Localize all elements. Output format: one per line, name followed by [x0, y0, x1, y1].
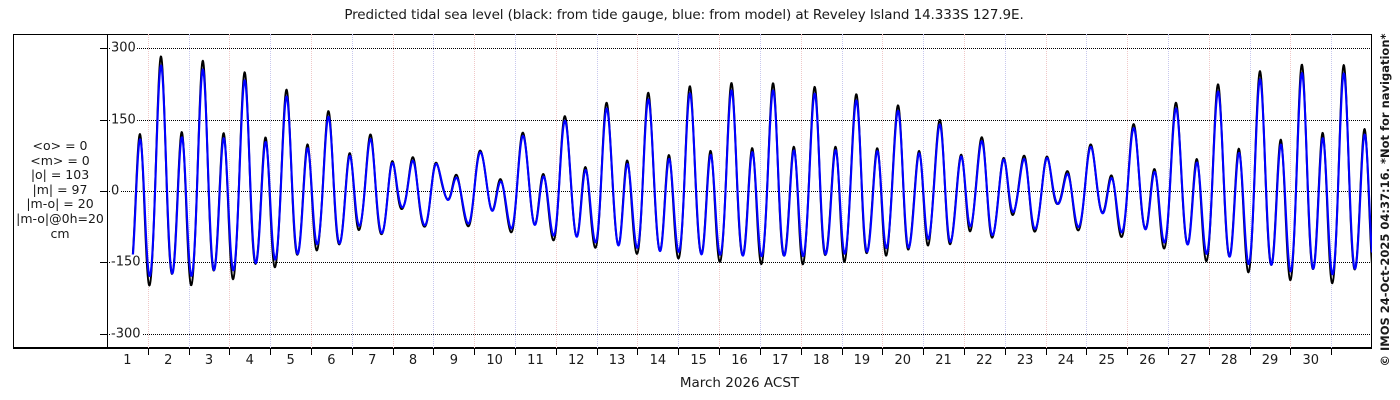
x-tick-label: 22	[976, 353, 993, 368]
x-tick-mark	[882, 348, 883, 355]
x-tick-label: 3	[205, 353, 213, 368]
x-tick-label: 9	[450, 353, 458, 368]
y-axis-line	[107, 34, 108, 348]
x-tick-label: 12	[568, 353, 585, 368]
x-tick-mark	[270, 348, 271, 355]
x-tick-label: 10	[486, 353, 503, 368]
x-tick-label: 2	[164, 353, 172, 368]
x-tick-mark	[148, 348, 149, 355]
x-tick-mark	[474, 348, 475, 355]
x-tick-mark	[1290, 348, 1291, 355]
x-tick-label: 28	[1221, 353, 1238, 368]
x-tick-mark	[678, 348, 679, 355]
y-tick-mark	[100, 48, 107, 49]
x-tick-mark	[801, 348, 802, 355]
x-tick-label: 29	[1262, 353, 1279, 368]
x-tick-mark	[1086, 348, 1087, 355]
x-tick-label: 17	[772, 353, 789, 368]
x-tick-label: 14	[650, 353, 667, 368]
tidal-chart-page: Predicted tidal sea level (black: from t…	[0, 0, 1400, 400]
x-tick-label: 13	[609, 353, 626, 368]
statistic-line: cm	[13, 227, 107, 242]
x-tick-mark	[1005, 348, 1006, 355]
series-line-model	[132, 66, 1372, 276]
copyright-notice: © IMOS 24-Oct-2025 04:37:16. *Not for na…	[1374, 0, 1396, 400]
y-tick-label: 0	[110, 184, 120, 199]
x-tick-mark	[556, 348, 557, 355]
x-tick-mark	[760, 348, 761, 355]
x-tick-label: 26	[1139, 353, 1156, 368]
x-tick-label: 4	[246, 353, 254, 368]
x-tick-mark	[189, 348, 190, 355]
x-tick-label: 24	[1058, 353, 1075, 368]
x-tick-mark	[433, 348, 434, 355]
page-title: Predicted tidal sea level (black: from t…	[0, 7, 1368, 23]
x-tick-label: 19	[854, 353, 871, 368]
statistic-line: <m> = 0	[13, 154, 107, 169]
x-tick-mark	[352, 348, 353, 355]
tide-series-plot	[107, 34, 1372, 348]
x-tick-mark	[515, 348, 516, 355]
y-tick-label: 300	[110, 41, 137, 56]
statistics-block: <o> = 0<m> = 0|o| = 103|m| = 97|m-o| = 2…	[13, 139, 107, 241]
x-tick-mark	[229, 348, 230, 355]
statistic-line: |m-o|@0h=20	[13, 212, 107, 227]
x-tick-mark	[1209, 348, 1210, 355]
x-tick-mark	[1250, 348, 1251, 355]
x-tick-mark	[719, 348, 720, 355]
x-tick-label: 8	[409, 353, 417, 368]
statistic-line: |m| = 97	[13, 183, 107, 198]
x-tick-label: 6	[327, 353, 335, 368]
x-axis-title: March 2026 ACST	[107, 375, 1372, 391]
series-line-observed	[132, 56, 1372, 285]
y-tick-mark	[100, 262, 107, 263]
x-tick-mark	[637, 348, 638, 355]
x-tick-label: 21	[935, 353, 952, 368]
x-tick-mark	[923, 348, 924, 355]
x-tick-label: 30	[1303, 353, 1320, 368]
x-tick-mark	[1331, 348, 1332, 355]
x-tick-label: 7	[368, 353, 376, 368]
y-tick-label: -300	[110, 326, 142, 341]
y-tick-label: -150	[110, 255, 142, 270]
x-tick-mark	[1046, 348, 1047, 355]
copyright-text: © IMOS 24-Oct-2025 04:37:16. *Not for na…	[1378, 33, 1392, 366]
x-tick-label: 25	[1098, 353, 1115, 368]
x-tick-mark	[964, 348, 965, 355]
x-tick-label: 1	[123, 353, 131, 368]
statistic-line: |o| = 103	[13, 168, 107, 183]
x-tick-label: 11	[527, 353, 544, 368]
y-tick-mark	[100, 120, 107, 121]
y-tick-label: 150	[110, 112, 137, 127]
plot-area	[107, 34, 1372, 348]
x-tick-label: 5	[286, 353, 294, 368]
x-tick-label: 16	[731, 353, 748, 368]
x-tick-mark	[842, 348, 843, 355]
x-tick-label: 27	[1180, 353, 1197, 368]
y-tick-mark	[100, 334, 107, 335]
x-tick-mark	[393, 348, 394, 355]
x-tick-label: 20	[894, 353, 911, 368]
x-tick-mark	[597, 348, 598, 355]
statistic-line: |m-o| = 20	[13, 197, 107, 212]
x-tick-mark	[1127, 348, 1128, 355]
statistic-line: <o> = 0	[13, 139, 107, 154]
x-tick-label: 18	[813, 353, 830, 368]
x-tick-label: 23	[1017, 353, 1034, 368]
x-tick-mark	[1168, 348, 1169, 355]
x-tick-mark	[311, 348, 312, 355]
x-tick-label: 15	[690, 353, 707, 368]
